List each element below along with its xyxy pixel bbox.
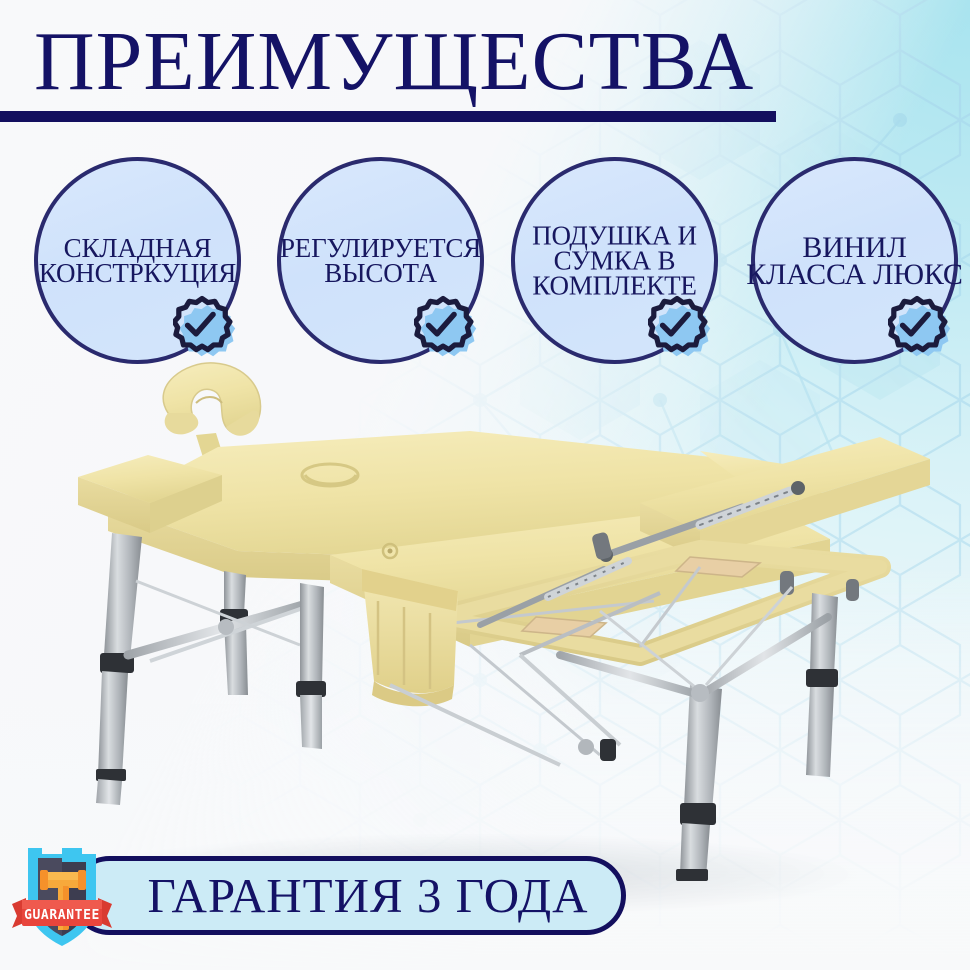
title-underline	[0, 111, 776, 122]
face-cradle	[163, 363, 260, 436]
check-badge-icon	[888, 295, 954, 361]
side-pouch	[362, 569, 458, 706]
infographic-canvas: ПРЕИМУЩЕСТВА СКЛАДНАЯ КОНСТРКУЦИЯ РЕГУЛИ…	[0, 0, 970, 970]
leg-mid	[296, 583, 326, 749]
warranty-label: ГАРАНТИЯ 3 ГОДА	[118, 856, 618, 935]
check-badge-icon	[173, 295, 239, 361]
product-image-folding-massage-table	[0, 355, 970, 915]
leg-front-left	[96, 533, 142, 805]
guarantee-shield-icon: GUARANTEE	[8, 838, 116, 950]
guarantee-ribbon-label: GUARANTEE	[24, 908, 100, 923]
feature-label: ВИНИЛ КЛАССА ЛЮКС	[695, 234, 970, 288]
check-badge-icon	[414, 295, 480, 361]
check-badge-icon	[648, 295, 714, 361]
brace-left	[128, 581, 310, 661]
page-title: ПРЕИМУЩЕСТВА	[34, 18, 774, 106]
